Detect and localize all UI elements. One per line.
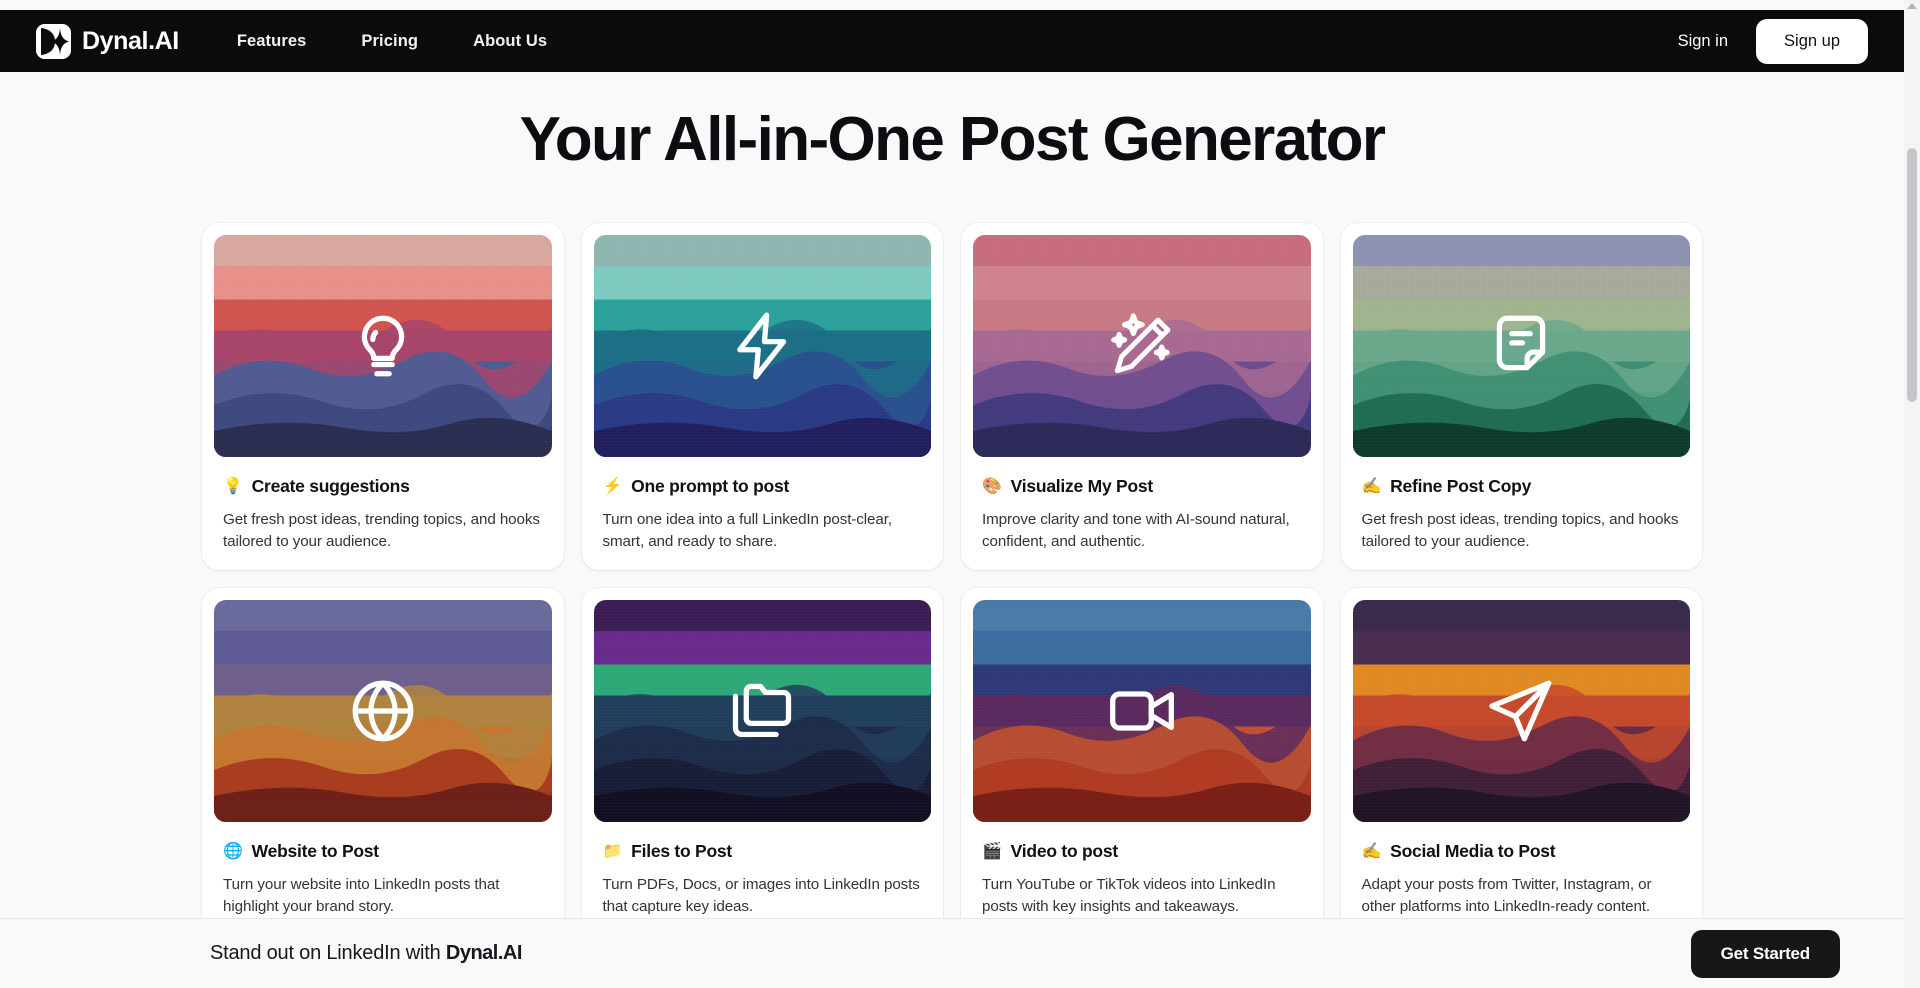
sign-in-link[interactable]: Sign in: [1678, 32, 1728, 51]
feature-card-image: [594, 235, 932, 457]
feature-card-title-row: ✍️Refine Post Copy: [1362, 476, 1691, 497]
feature-card[interactable]: ⚡One prompt to postTurn one idea into a …: [582, 223, 944, 570]
feature-card-title: Refine Post Copy: [1390, 476, 1531, 497]
feature-card[interactable]: 📁Files to PostTurn PDFs, Docs, or images…: [582, 588, 944, 918]
feature-cards-section: 💡Create suggestionsGet fresh post ideas,…: [202, 223, 1702, 918]
feature-card-image: [594, 600, 932, 822]
feature-card[interactable]: 🎬Video to postTurn YouTube or TikTok vid…: [961, 588, 1323, 918]
main-content: Your All-in-One Post Generator 💡Create s…: [0, 72, 1904, 918]
page-top-strip: [0, 0, 1904, 10]
feature-card-title: Files to Post: [631, 841, 732, 862]
feature-card-image: [973, 235, 1311, 457]
feature-card[interactable]: ✍️Social Media to PostAdapt your posts f…: [1341, 588, 1703, 918]
folder-emoji: 📁: [603, 844, 623, 860]
sparkle-logo-icon: [36, 24, 71, 59]
header-actions: Sign in Sign up: [1678, 19, 1868, 64]
feature-card-title-row: 🎬Video to post: [982, 841, 1311, 862]
browser-scrollbar[interactable]: [1904, 0, 1920, 988]
lightbulb-emoji: 💡: [223, 479, 243, 495]
feature-card-description: Turn your website into LinkedIn posts th…: [223, 874, 543, 917]
nav-item-about-us[interactable]: About Us: [473, 32, 547, 51]
bottom-cta-prefix: Stand out on LinkedIn with: [210, 942, 446, 964]
lightbulb-icon: [346, 309, 420, 383]
feature-card-title-row: 🌐Website to Post: [223, 841, 552, 862]
scrollbar-thumb[interactable]: [1907, 148, 1917, 402]
video-camera-icon: [1105, 674, 1179, 748]
feature-card[interactable]: ✍️Refine Post CopyGet fresh post ideas, …: [1341, 223, 1703, 570]
feature-card-image: [1353, 600, 1691, 822]
bottom-cta-brand: Dynal.AI: [446, 942, 522, 964]
feature-card-title: Social Media to Post: [1390, 841, 1555, 862]
site-header: Dynal.AI Features Pricing About Us Sign …: [0, 10, 1904, 72]
feature-card-title-row: 🎨Visualize My Post: [982, 476, 1311, 497]
bottom-cta-text: Stand out on LinkedIn with Dynal.AI: [210, 942, 522, 965]
feature-card[interactable]: 💡Create suggestionsGet fresh post ideas,…: [202, 223, 564, 570]
feature-card-title: Video to post: [1011, 841, 1118, 862]
feature-card-description: Get fresh post ideas, trending topics, a…: [223, 509, 543, 552]
globe-emoji: 🌐: [223, 844, 243, 860]
feature-card-description: Improve clarity and tone with AI-sound n…: [982, 509, 1302, 552]
main-nav: Features Pricing About Us: [237, 32, 547, 51]
sign-up-button[interactable]: Sign up: [1756, 19, 1868, 64]
feature-card-title: Visualize My Post: [1011, 476, 1153, 497]
feature-card-description: Adapt your posts from Twitter, Instagram…: [1362, 874, 1682, 917]
brand-logo[interactable]: Dynal.AI: [36, 24, 179, 59]
page-title: Your All-in-One Post Generator: [0, 104, 1904, 175]
send-paper-plane-icon: [1484, 674, 1558, 748]
feature-card-image: [214, 235, 552, 457]
lightning-icon: [725, 309, 799, 383]
scroll-up-arrow-icon[interactable]: [1907, 3, 1917, 9]
nav-item-pricing[interactable]: Pricing: [361, 32, 418, 51]
magic-pencil-icon: [1105, 309, 1179, 383]
folder-icon: [725, 674, 799, 748]
feature-card-image: [973, 600, 1311, 822]
feature-card-title-row: 💡Create suggestions: [223, 476, 552, 497]
feature-card-title: Create suggestions: [252, 476, 410, 497]
feature-card[interactable]: 🎨Visualize My PostImprove clarity and to…: [961, 223, 1323, 570]
globe-icon: [346, 674, 420, 748]
artist-palette-emoji: 🎨: [982, 479, 1002, 495]
feature-card-title: Website to Post: [252, 841, 379, 862]
sticky-note-icon: [1484, 309, 1558, 383]
brand-name: Dynal.AI: [82, 27, 179, 56]
bottom-cta-bar: Stand out on LinkedIn with Dynal.AI Get …: [0, 918, 1904, 988]
lightning-bolt-emoji: ⚡: [603, 479, 623, 495]
feature-card-title-row: ⚡One prompt to post: [603, 476, 932, 497]
get-started-button[interactable]: Get Started: [1691, 930, 1840, 978]
clapper-board-emoji: 🎬: [982, 844, 1002, 860]
feature-card-description: Turn YouTube or TikTok videos into Linke…: [982, 874, 1302, 917]
feature-card-grid: 💡Create suggestionsGet fresh post ideas,…: [202, 223, 1702, 918]
nav-item-features[interactable]: Features: [237, 32, 307, 51]
feature-card-image: [1353, 235, 1691, 457]
feature-card[interactable]: 🌐Website to PostTurn your website into L…: [202, 588, 564, 918]
feature-card-description: Get fresh post ideas, trending topics, a…: [1362, 509, 1682, 552]
writing-hand-emoji: ✍️: [1362, 479, 1382, 495]
feature-card-title-row: 📁Files to Post: [603, 841, 932, 862]
feature-card-description: Turn PDFs, Docs, or images into LinkedIn…: [603, 874, 923, 917]
writing-hand-emoji: ✍️: [1362, 844, 1382, 860]
feature-card-description: Turn one idea into a full LinkedIn post-…: [603, 509, 923, 552]
feature-card-image: [214, 600, 552, 822]
feature-card-title: One prompt to post: [631, 476, 789, 497]
feature-card-title-row: ✍️Social Media to Post: [1362, 841, 1691, 862]
